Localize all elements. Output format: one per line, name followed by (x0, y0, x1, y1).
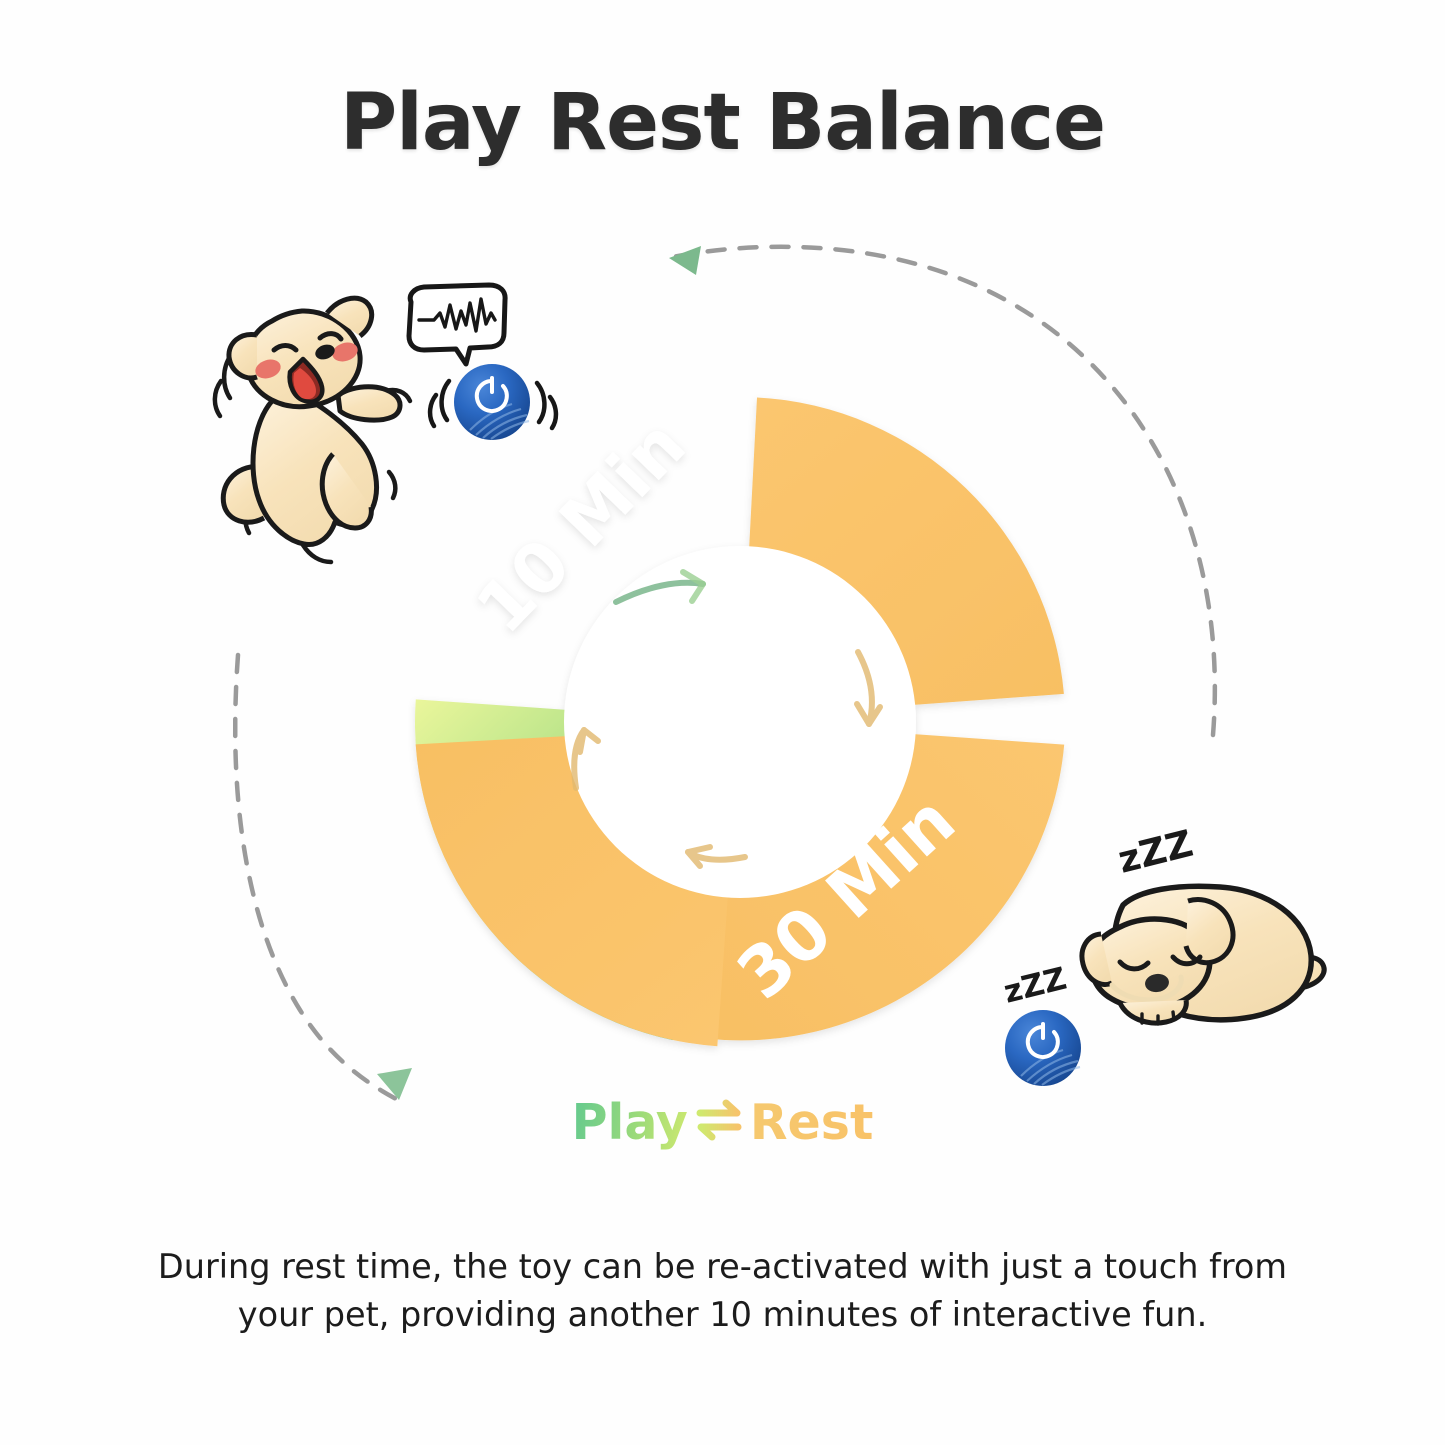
sleep-dog-paws (1120, 1000, 1186, 1023)
play-to-rest-arrow (235, 655, 412, 1100)
dog-ear-left (229, 335, 257, 378)
heartbeat-speech-bubble (409, 285, 505, 364)
swap-horizontal-icon (692, 1096, 746, 1153)
caption-line-2: your pet, providing another 10 minutes o… (110, 1291, 1335, 1339)
dog-front-paw (338, 387, 400, 420)
play-label: Play (572, 1094, 688, 1151)
blue-toy-ball-play[interactable] (430, 364, 556, 440)
sleep-dog-zzz: zZZ (1114, 822, 1197, 882)
play-rest-label: PlayRest (0, 1094, 1445, 1153)
rest-label: Rest (750, 1094, 874, 1151)
caption: During rest time, the toy can be re-acti… (110, 1243, 1335, 1338)
caption-line-1: During rest time, the toy can be re-acti… (110, 1243, 1335, 1291)
infographic-root: Play Rest Balance (0, 0, 1445, 1445)
sleeping-dog: zZZ (1082, 822, 1324, 1024)
blue-toy-ball-rest[interactable]: zZZ (1000, 961, 1081, 1086)
sleep-ball-zzz: zZZ (1000, 961, 1070, 1011)
infographic-canvas: 10 Min 30 Min (0, 0, 1445, 1445)
donut-chart: 10 Min 30 Min (393, 397, 1078, 1062)
